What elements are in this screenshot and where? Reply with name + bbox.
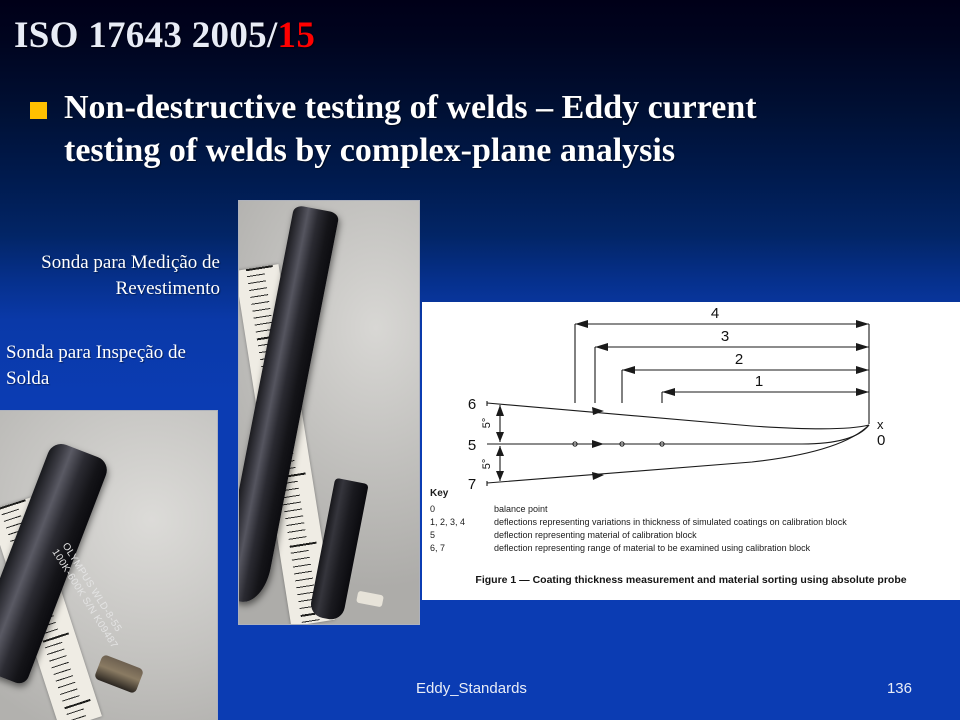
curve-label-5: 5 xyxy=(468,437,476,454)
probe-tip-coating xyxy=(356,591,384,608)
figure-key-row: 1, 2, 3, 4 deflections representing vari… xyxy=(430,516,954,529)
figure-key-row: 6, 7 deflection representing range of ma… xyxy=(430,542,954,555)
key-desc: deflections representing variations in t… xyxy=(494,516,847,529)
photo-weld-probe: OLYMPUS WLD-8-55 100K-600K S/N K09487 xyxy=(0,410,218,720)
photo-coating-probe: OLYMPUS NEC-2236 5-250kHz S/N KI0090 xyxy=(238,200,420,625)
curve-label-6: 6 xyxy=(468,396,476,413)
caption-coating-probe: Sonda para Medição de Revestimento xyxy=(8,250,220,302)
bullet-list-item: Non-destructive testing of welds – Eddy … xyxy=(30,86,830,172)
key-num: 6, 7 xyxy=(430,542,494,555)
slide-canvas: ISO 17643 2005/15 Non-destructive testin… xyxy=(0,0,960,720)
footer-deck-name: Eddy_Standards xyxy=(416,680,527,697)
key-num: 5 xyxy=(430,529,494,542)
figure-key: Key 0 balance point 1, 2, 3, 4 deflectio… xyxy=(430,488,954,555)
key-desc: deflection representing material of cali… xyxy=(494,529,697,542)
figure-caption: Figure 1 — Coating thickness measurement… xyxy=(422,574,960,586)
key-desc: deflection representing range of materia… xyxy=(494,542,810,555)
slide-title: ISO 17643 2005/15 xyxy=(14,14,934,58)
angle-label-upper: 5° xyxy=(481,418,493,429)
figure-panel: 4 3 2 1 6 5 7 x 0 5° 5° Key 0 balance po… xyxy=(422,302,960,600)
figure-key-row: 0 balance point xyxy=(430,503,954,516)
dimension-arrowheads xyxy=(496,320,869,481)
key-num: 1, 2, 3, 4 xyxy=(430,516,494,529)
figure-key-row: 5 deflection representing material of ca… xyxy=(430,529,954,542)
bullet-square-icon xyxy=(30,102,47,119)
dim-label-3: 3 xyxy=(721,328,729,345)
dim-label-4: 4 xyxy=(711,305,719,322)
origin-marker-x: x xyxy=(877,417,884,432)
footer-page-number: 136 xyxy=(887,680,912,697)
angle-label-lower: 5° xyxy=(481,459,493,470)
title-accent-text: 15 xyxy=(278,15,316,56)
probe-tip-weld xyxy=(94,654,144,694)
title-main-text: ISO 17643 2005/ xyxy=(14,15,278,56)
origin-label-0: 0 xyxy=(877,432,885,449)
key-desc: balance point xyxy=(494,503,548,516)
bullet-item-label: Non-destructive testing of welds – Eddy … xyxy=(64,86,809,172)
key-num: 0 xyxy=(430,503,494,516)
dim-label-2: 2 xyxy=(735,351,743,368)
caption-weld-probe: Sonda para Inspeção de Solda xyxy=(6,340,226,392)
figure-key-title: Key xyxy=(430,488,954,499)
figure-diagram: 4 3 2 1 6 5 7 x 0 5° 5° xyxy=(422,302,960,492)
dim-label-1: 1 xyxy=(755,373,763,390)
